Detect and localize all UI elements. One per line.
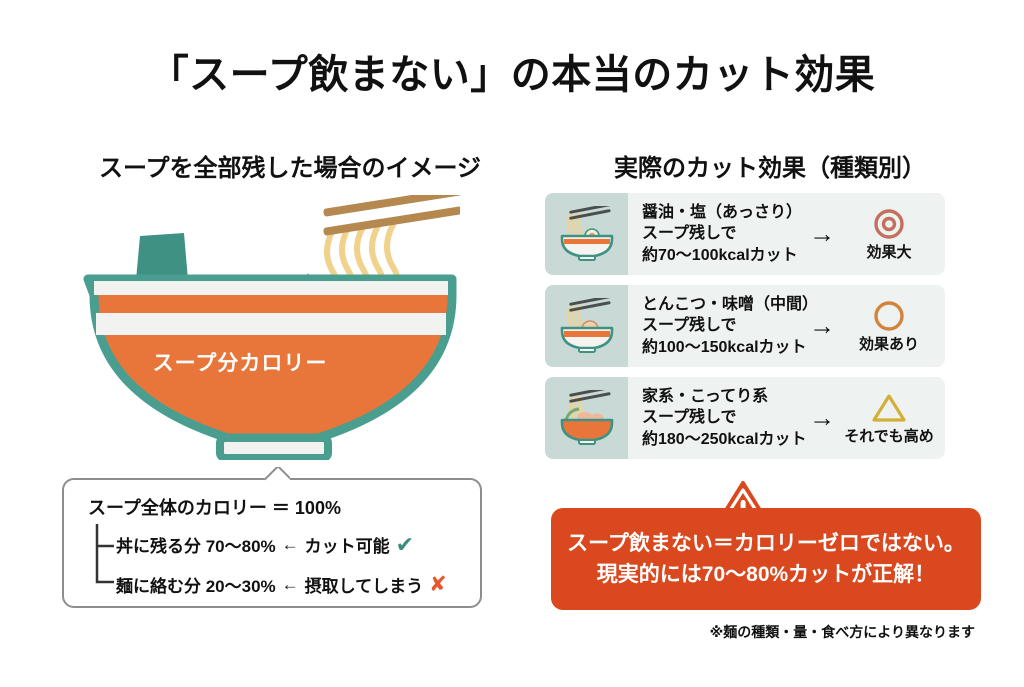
footnote: ※麺の種類・量・食べ方により異なります xyxy=(551,622,981,642)
card-verdict-label: 効果あり xyxy=(837,333,941,354)
infographic-canvas: 「スープ飲まない」の本当のカット効果 スープを全部残した場合のイメージ xyxy=(0,0,1024,687)
card-shoyu-shio: 醤油・塩（あっさり） スープ残しで 約70〜100kcalカット → 効果大 xyxy=(545,193,945,275)
card-icon-cell xyxy=(545,285,628,367)
callout-pointer xyxy=(264,467,290,481)
card-text-block: とんこつ・味噌（中間） スープ残しで 約100〜150kcalカット xyxy=(642,294,818,357)
callout-total-line: スープ全体のカロリー ＝ 100% xyxy=(88,494,341,520)
card-type-label: 醤油・塩（あっさり） xyxy=(642,202,802,223)
card-amount-label: 約70〜100kcalカット xyxy=(642,245,802,266)
check-icon: ✔ xyxy=(396,534,414,556)
card-verdict: それでも高め xyxy=(837,390,941,446)
soup-bowl-illustration: スープ分カロリー xyxy=(80,195,460,460)
card-action-label: スープ残しで xyxy=(642,315,818,336)
callout-row-bowl-label: 丼に残る分 70〜80% xyxy=(116,532,276,557)
ramen-bowl-medium-icon xyxy=(554,298,620,354)
card-amount-label: 約180〜250kcalカット xyxy=(642,429,807,450)
callout-row-noodle-note: 摂取してしまう xyxy=(305,572,424,597)
card-verdict: 効果大 xyxy=(837,206,941,262)
left-arrow-icon: ← xyxy=(282,575,299,595)
right-section-heading: 実際のカット効果（種類別） xyxy=(545,148,995,183)
spoon-tab-icon xyxy=(136,233,188,280)
card-type-label: とんこつ・味噌（中間） xyxy=(642,294,818,315)
callout-row-bowl-note: カット可能 xyxy=(305,532,390,557)
card-verdict-label: それでも高め xyxy=(837,425,941,446)
circle-icon xyxy=(837,298,941,334)
warning-banner: スープ飲まない＝カロリーゼロではない。 現実的には70〜80%カットが正解！ xyxy=(551,508,981,610)
right-arrow-icon: → xyxy=(809,403,835,434)
warning-line-1: スープ飲まない＝カロリーゼロではない。 xyxy=(567,528,965,560)
ramen-bowl-rich-icon xyxy=(554,390,620,446)
bowl-body xyxy=(88,279,452,438)
right-arrow-icon: → xyxy=(809,219,835,250)
tree-bracket-icon xyxy=(94,524,116,586)
card-verdict: 効果あり xyxy=(837,298,941,354)
card-verdict-label: 効果大 xyxy=(837,241,941,262)
card-type-label: 家系・こってり系 xyxy=(642,386,807,407)
callout-row-bowl: 丼に残る分 70〜80% ← カット可能 ✔ xyxy=(116,532,414,557)
double-circle-icon xyxy=(837,206,941,242)
card-iekei-kotteri: 家系・こってり系 スープ残しで 約180〜250kcalカット → それでも高め xyxy=(545,377,945,459)
left-section-heading: スープを全部残した場合のイメージ xyxy=(60,148,520,183)
cut-effect-card-list: 醤油・塩（あっさり） スープ残しで 約70〜100kcalカット → 効果大 xyxy=(545,193,945,469)
card-action-label: スープ残しで xyxy=(642,407,807,428)
callout-row-noodle-label: 麺に絡む分 20〜30% xyxy=(116,572,276,597)
cross-icon: ✘ xyxy=(429,574,447,595)
card-icon-cell xyxy=(545,193,628,275)
page-title: 「スープ飲まない」の本当のカット効果 xyxy=(0,42,1024,100)
bowl-svg xyxy=(80,195,460,460)
warning-line-2: 現実的には70〜80%カットが正解！ xyxy=(597,559,935,591)
callout-row-noodle: 麺に絡む分 20〜30% ← 摂取してしまう ✘ xyxy=(116,572,447,597)
left-arrow-icon: ← xyxy=(282,535,299,555)
card-amount-label: 約100〜150kcalカット xyxy=(642,337,818,358)
card-text-block: 家系・こってり系 スープ残しで 約180〜250kcalカット xyxy=(642,386,807,449)
card-icon-cell xyxy=(545,377,628,459)
ramen-bowl-light-icon xyxy=(554,206,620,262)
calorie-breakdown-callout: スープ全体のカロリー ＝ 100% 丼に残る分 70〜80% ← カット可能 ✔… xyxy=(62,478,482,608)
triangle-icon xyxy=(837,390,941,426)
card-tonkotsu-miso: とんこつ・味噌（中間） スープ残しで 約100〜150kcalカット → 効果あ… xyxy=(545,285,945,367)
card-action-label: スープ残しで xyxy=(642,223,802,244)
right-arrow-icon: → xyxy=(809,311,835,342)
card-text-block: 醤油・塩（あっさり） スープ残しで 約70〜100kcalカット xyxy=(642,202,802,265)
